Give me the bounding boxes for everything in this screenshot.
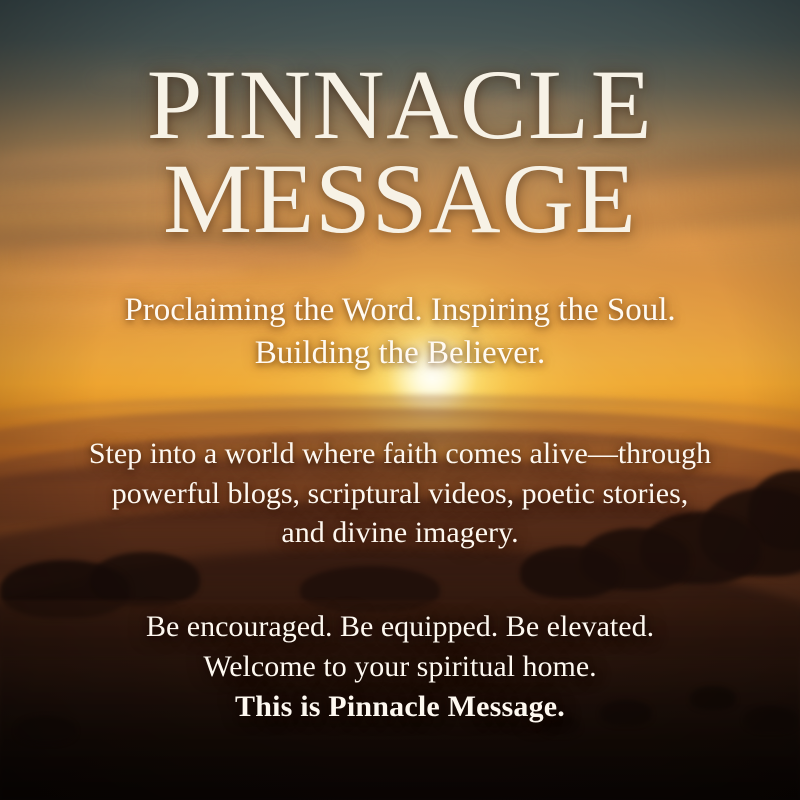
closing-paragraph: Be encouraged. Be equipped. Be elevated.… — [0, 607, 800, 727]
body-paragraph: Step into a world where faith comes aliv… — [0, 434, 800, 553]
body-line-2: powerful blogs, scriptural videos, poeti… — [0, 474, 800, 514]
title-line-2: MESSAGE — [0, 152, 800, 246]
tagline-line-1: Proclaiming the Word. Inspiring the Soul… — [0, 289, 800, 332]
tagline: Proclaiming the Word. Inspiring the Soul… — [0, 289, 800, 375]
promo-poster: PINNACLE MESSAGE Proclaiming the Word. I… — [0, 0, 800, 800]
tagline-line-2: Building the Believer. — [0, 332, 800, 375]
closing-line-3: This is Pinnacle Message. — [0, 687, 800, 727]
body-line-3: and divine imagery. — [0, 513, 800, 553]
closing-line-1: Be encouraged. Be equipped. Be elevated. — [0, 607, 800, 647]
body-line-1: Step into a world where faith comes aliv… — [0, 434, 800, 474]
title-line-1: PINNACLE — [0, 58, 800, 152]
closing-line-2: Welcome to your spiritual home. — [0, 647, 800, 687]
poster-content: PINNACLE MESSAGE Proclaiming the Word. I… — [0, 0, 800, 800]
page-title: PINNACLE MESSAGE — [0, 58, 800, 246]
